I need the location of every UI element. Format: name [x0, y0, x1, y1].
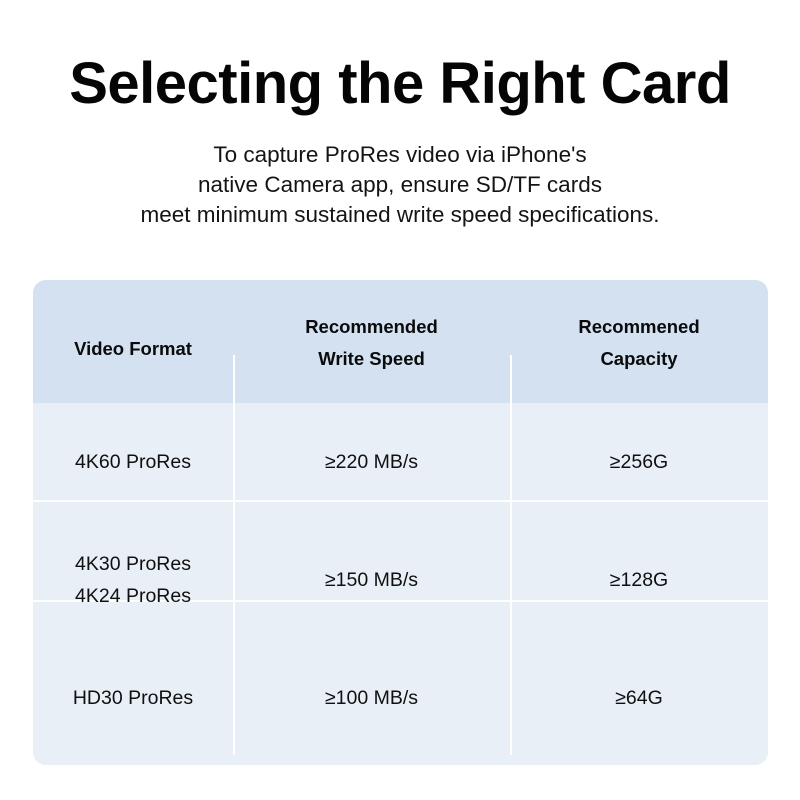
table-row: HD30 ProRes [33, 682, 233, 714]
subtitle-line-1: To capture ProRes video via iPhone's [0, 140, 800, 170]
column-header-recommended-capacity: Recommened Capacity [510, 311, 768, 376]
infographic-page: Selecting the Right Card To capture ProR… [0, 0, 800, 800]
subtitle-line-3: meet minimum sustained write speed speci… [0, 200, 800, 230]
cell-write-speed: ≥220 MB/s [233, 446, 510, 478]
subtitle-line-2: native Camera app, ensure SD/TF cards [0, 170, 800, 200]
cell-video-format: HD30 ProRes [33, 682, 233, 714]
column-header-recommended-write-speed: Recommended Write Speed [233, 311, 510, 376]
specifications-table: Video Format Recommended Write Speed Rec… [33, 280, 768, 765]
column-header-line: Capacity [510, 343, 768, 375]
cell-write-speed: ≥100 MB/s [233, 682, 510, 714]
column-header-line: Recommened [510, 311, 768, 343]
table-row: 4K60 ProRes [33, 446, 233, 478]
cell-capacity: ≥64G [510, 682, 768, 714]
cell-capacity: ≥256G [510, 446, 768, 478]
row-divider [33, 500, 768, 502]
cell-video-format: 4K60 ProRes [33, 446, 233, 478]
column-header-line: Video Format [33, 333, 233, 365]
column-header-video-format: Video Format [33, 333, 233, 365]
page-title: Selecting the Right Card [0, 52, 800, 116]
cell-capacity: ≥128G [510, 564, 768, 596]
cell-write-speed: ≥150 MB/s [233, 564, 510, 596]
cell-video-format: 4K24 ProRes [33, 580, 233, 612]
table-header-row: Video Format Recommended Write Speed Rec… [33, 280, 768, 403]
column-header-line: Recommended [233, 311, 510, 343]
cell-video-format: 4K30 ProRes [33, 548, 233, 580]
page-subtitle: To capture ProRes video via iPhone's nat… [0, 140, 800, 230]
column-header-line: Write Speed [233, 343, 510, 375]
table-row: 4K30 ProRes 4K24 ProRes [33, 548, 233, 613]
